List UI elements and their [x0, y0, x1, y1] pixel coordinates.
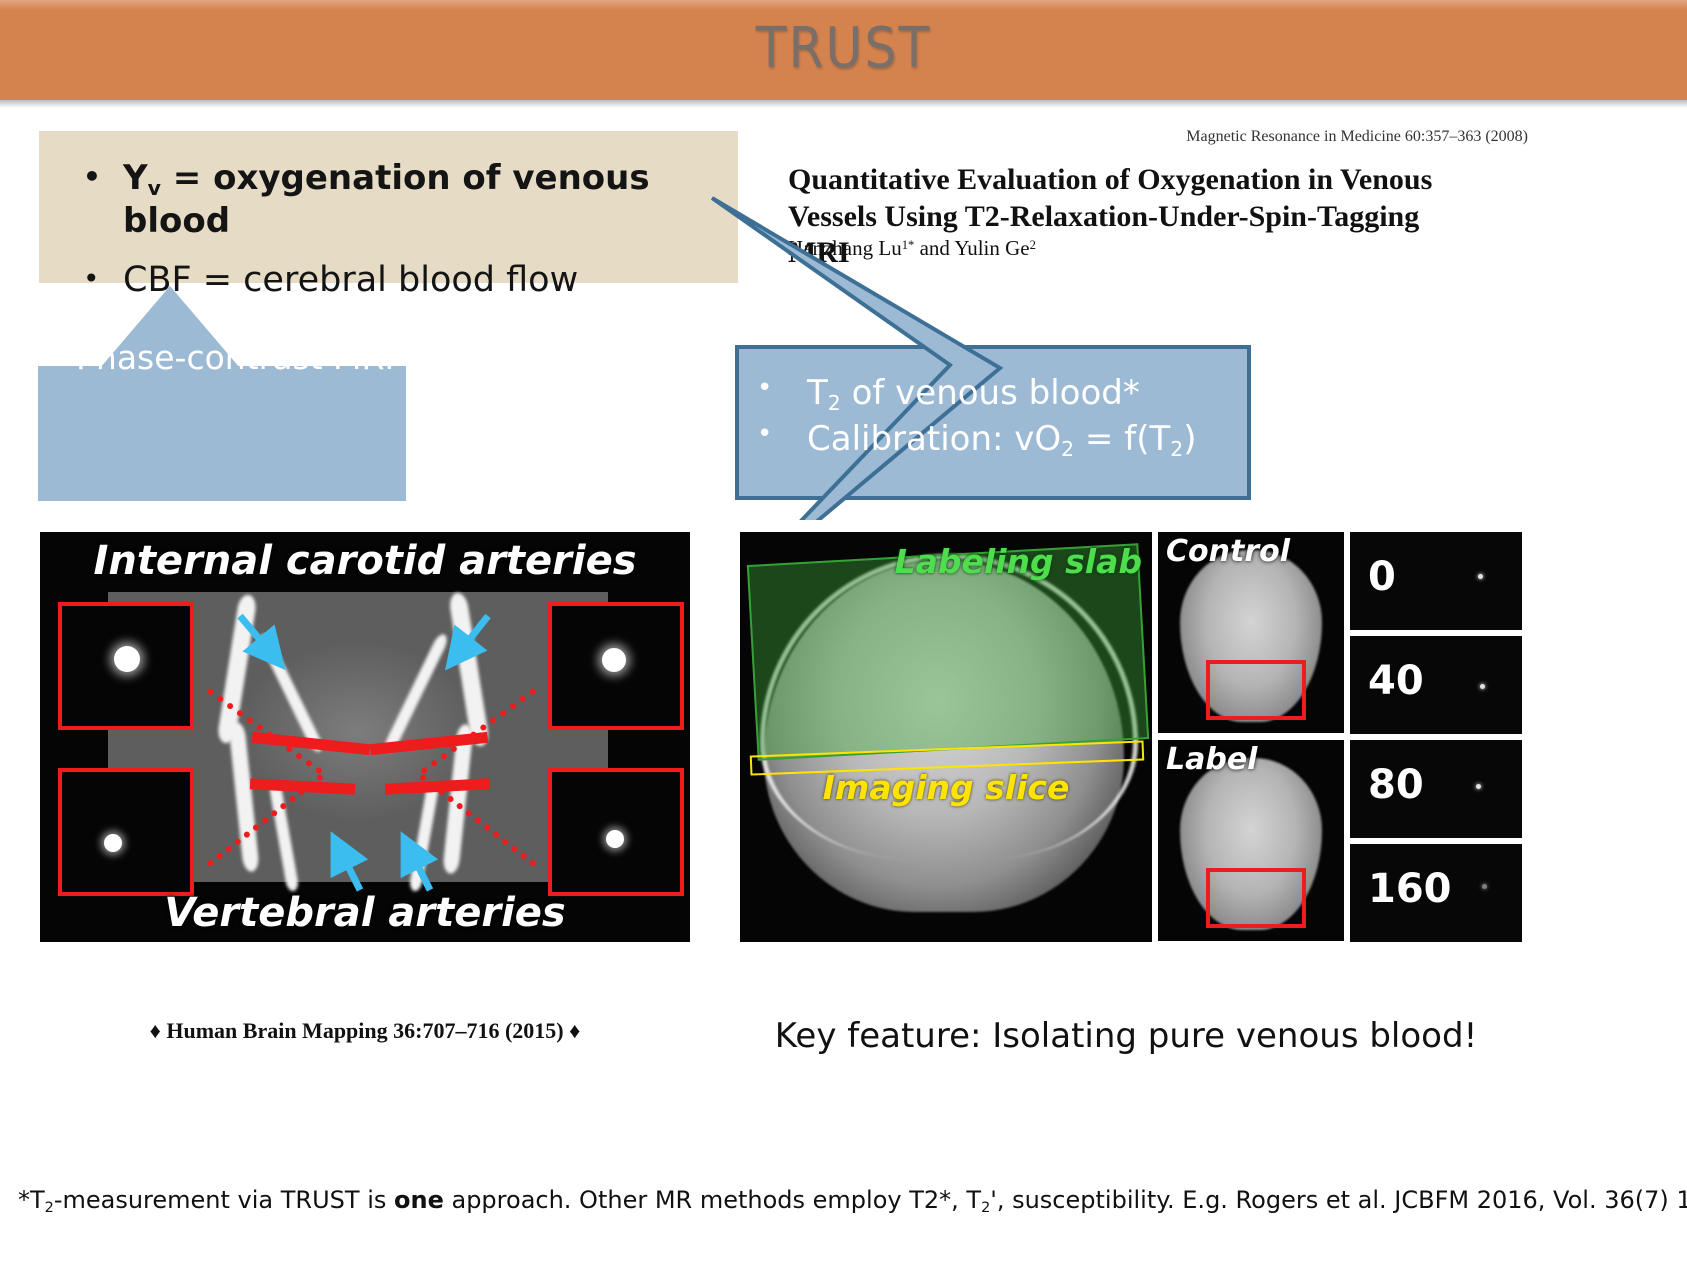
ft2-subscript: 2 — [1170, 437, 1183, 461]
panel-tag-control: Control — [1166, 534, 1290, 569]
te-cell-80: 80 — [1350, 740, 1522, 838]
labeling-slab-label: Labeling slab — [895, 542, 1142, 581]
roi-box-sagittal-sinus — [1206, 660, 1306, 720]
vessel-signal-dot — [1478, 574, 1483, 579]
figure-trust-acquisition: Labeling slab Imaging slice Control Labe… — [740, 532, 1512, 942]
slide-footnote: *T2-measurement via TRUST is one approac… — [18, 1186, 1668, 1214]
axial-panel-control: Control — [1158, 532, 1344, 733]
te-value: 160 — [1368, 866, 1452, 912]
bullet-glyph: • — [757, 371, 772, 406]
slide-title-bar: TRUST — [0, 0, 1687, 100]
definitions-box: •Yv = oxygenation of venous blood •CBF =… — [39, 131, 738, 283]
callout-body — [38, 366, 406, 501]
definition-symbol: Y — [123, 158, 148, 198]
vessel-signal-dot — [1480, 684, 1485, 689]
calibration-text-c: ) — [1183, 419, 1196, 459]
footnote-sub-2: 2 — [981, 1200, 990, 1216]
bullet-glyph: • — [83, 158, 101, 196]
calibration-text-a: Calibration: vO — [807, 419, 1061, 459]
footnote-part-a: *T — [18, 1186, 45, 1214]
page-title: TRUST — [0, 16, 1687, 81]
footnote-part-d: ', susceptibility. E.g. Rogers et al. JC… — [990, 1186, 1687, 1214]
vessel-signal-dot — [1476, 784, 1481, 789]
te-value: 80 — [1368, 762, 1424, 808]
footnote-emphasis: one — [394, 1186, 444, 1214]
axial-panel-label: Label — [1158, 740, 1344, 941]
figure-left-caption: ♦ Human Brain Mapping 36:707–716 (2015) … — [40, 1018, 690, 1044]
definition-item-yv: •Yv = oxygenation of venous blood — [61, 157, 738, 242]
panel-tag-label: Label — [1166, 742, 1257, 777]
annotation-arrows-icon — [40, 532, 690, 942]
figure-left-top-label: Internal carotid arteries — [40, 538, 690, 584]
callout-right-list: •T2 of venous blood* •Calibration: vO2 =… — [735, 345, 1251, 463]
figure-carotid-angiography: Internal carotid arteries Vertebral arte… — [40, 532, 690, 942]
footnote-sub-1: 2 — [45, 1200, 54, 1216]
t2-subscript: 2 — [828, 391, 841, 415]
imaging-slice-label: Imaging slice — [740, 768, 1152, 807]
te-cell-160: 160 — [1350, 844, 1522, 942]
t2-text: of venous blood* — [841, 373, 1140, 413]
figure-right-caption: Key feature: Isolating pure venous blood… — [740, 1016, 1512, 1056]
definition-text: = oxygenation of venous blood — [123, 158, 650, 241]
vessel-signal-dot — [1482, 884, 1487, 889]
sagittal-panel: Labeling slab Imaging slice — [740, 532, 1152, 942]
journal-citation: Magnetic Resonance in Medicine 60:357–36… — [1186, 128, 1528, 146]
callout-phase-contrast[interactable]: Phase-contrast MRI — [38, 286, 406, 501]
footnote-part-b: -measurement via TRUST is — [54, 1186, 394, 1214]
callout-right-item-t2: •T2 of venous blood* — [735, 371, 1251, 417]
vo2-subscript: 2 — [1061, 437, 1074, 461]
te-value: 40 — [1368, 658, 1424, 704]
roi-box-sagittal-sinus — [1206, 868, 1306, 928]
definition-subscript: v — [148, 176, 161, 200]
te-cell-0: 0 — [1350, 532, 1522, 630]
callout-left-label: Phase-contrast MRI — [76, 338, 394, 377]
definitions-list: •Yv = oxygenation of venous blood •CBF =… — [39, 131, 738, 303]
te-value: 0 — [1368, 554, 1396, 600]
bullet-glyph: • — [757, 417, 772, 452]
title-bar-sheen — [0, 0, 1687, 10]
te-cell-40: 40 — [1350, 636, 1522, 734]
footnote-part-c: approach. Other MR methods employ T2*, T — [444, 1186, 981, 1214]
calibration-text-b: = f(T — [1074, 419, 1170, 459]
figure-left-bottom-label: Vertebral arteries — [40, 890, 690, 936]
t2-symbol: T — [807, 373, 828, 413]
callout-right-item-calibration: •Calibration: vO2 = f(T2) — [735, 417, 1251, 463]
title-bar-shadow — [0, 100, 1687, 108]
